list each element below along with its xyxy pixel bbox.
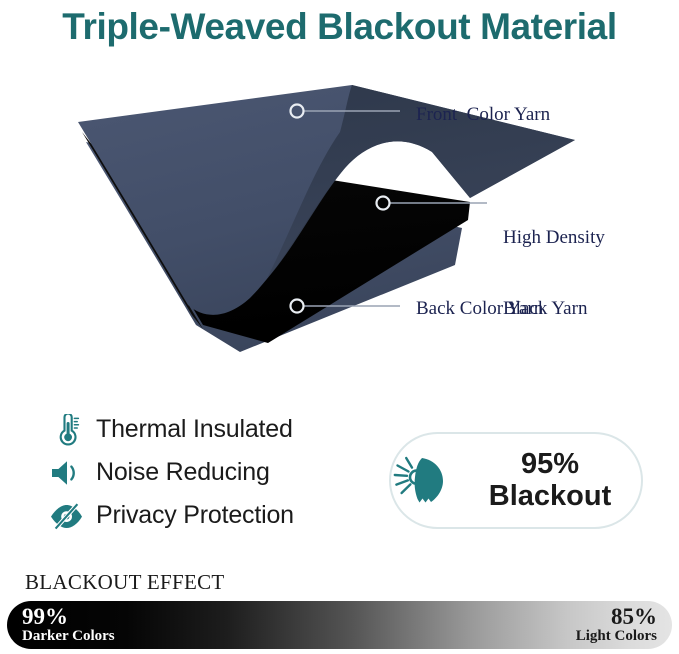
callout-label-front-color-yarn: Front Color Yarn (416, 103, 550, 127)
feature-label: Noise Reducing (96, 458, 270, 487)
features-list: Thermal Insulated Noise Reducing Privacy… (48, 408, 358, 537)
gradient-bar-left-percent: 99% (22, 605, 115, 629)
feature-row-privacy-protection: Privacy Protection (48, 494, 358, 537)
speaker-sound-icon (48, 455, 84, 491)
thermometer-icon (48, 412, 84, 448)
page-title: Triple-Weaved Blackout Material (0, 6, 679, 48)
blackout-effect-heading: BLACKOUT EFFECT (25, 570, 225, 595)
feature-label: Thermal Insulated (96, 415, 293, 444)
feature-label: Privacy Protection (96, 501, 294, 530)
eye-slash-icon (48, 498, 84, 534)
sun-blocked-by-curtain-icon (391, 450, 453, 512)
feature-row-thermal-insulated: Thermal Insulated (48, 408, 358, 451)
gradient-bar-right-percent: 85% (576, 605, 657, 629)
badge-percent: 95% (521, 448, 579, 480)
gradient-bar-right-stat: 85% Light Colors (576, 605, 657, 645)
callout-label-back-color-yarn: Back Color Yarn (416, 297, 543, 321)
badge-text: 95% Blackout (459, 449, 641, 512)
badge-word: Blackout (489, 480, 611, 512)
blackout-percentage-badge: 95% Blackout (389, 432, 643, 529)
gradient-bar-left-caption: Darker Colors (22, 629, 115, 645)
callout-label-line1: High Density (503, 226, 605, 250)
gradient-bar-right-caption: Light Colors (576, 629, 657, 645)
gradient-bar-left-stat: 99% Darker Colors (22, 605, 115, 645)
feature-row-noise-reducing: Noise Reducing (48, 451, 358, 494)
